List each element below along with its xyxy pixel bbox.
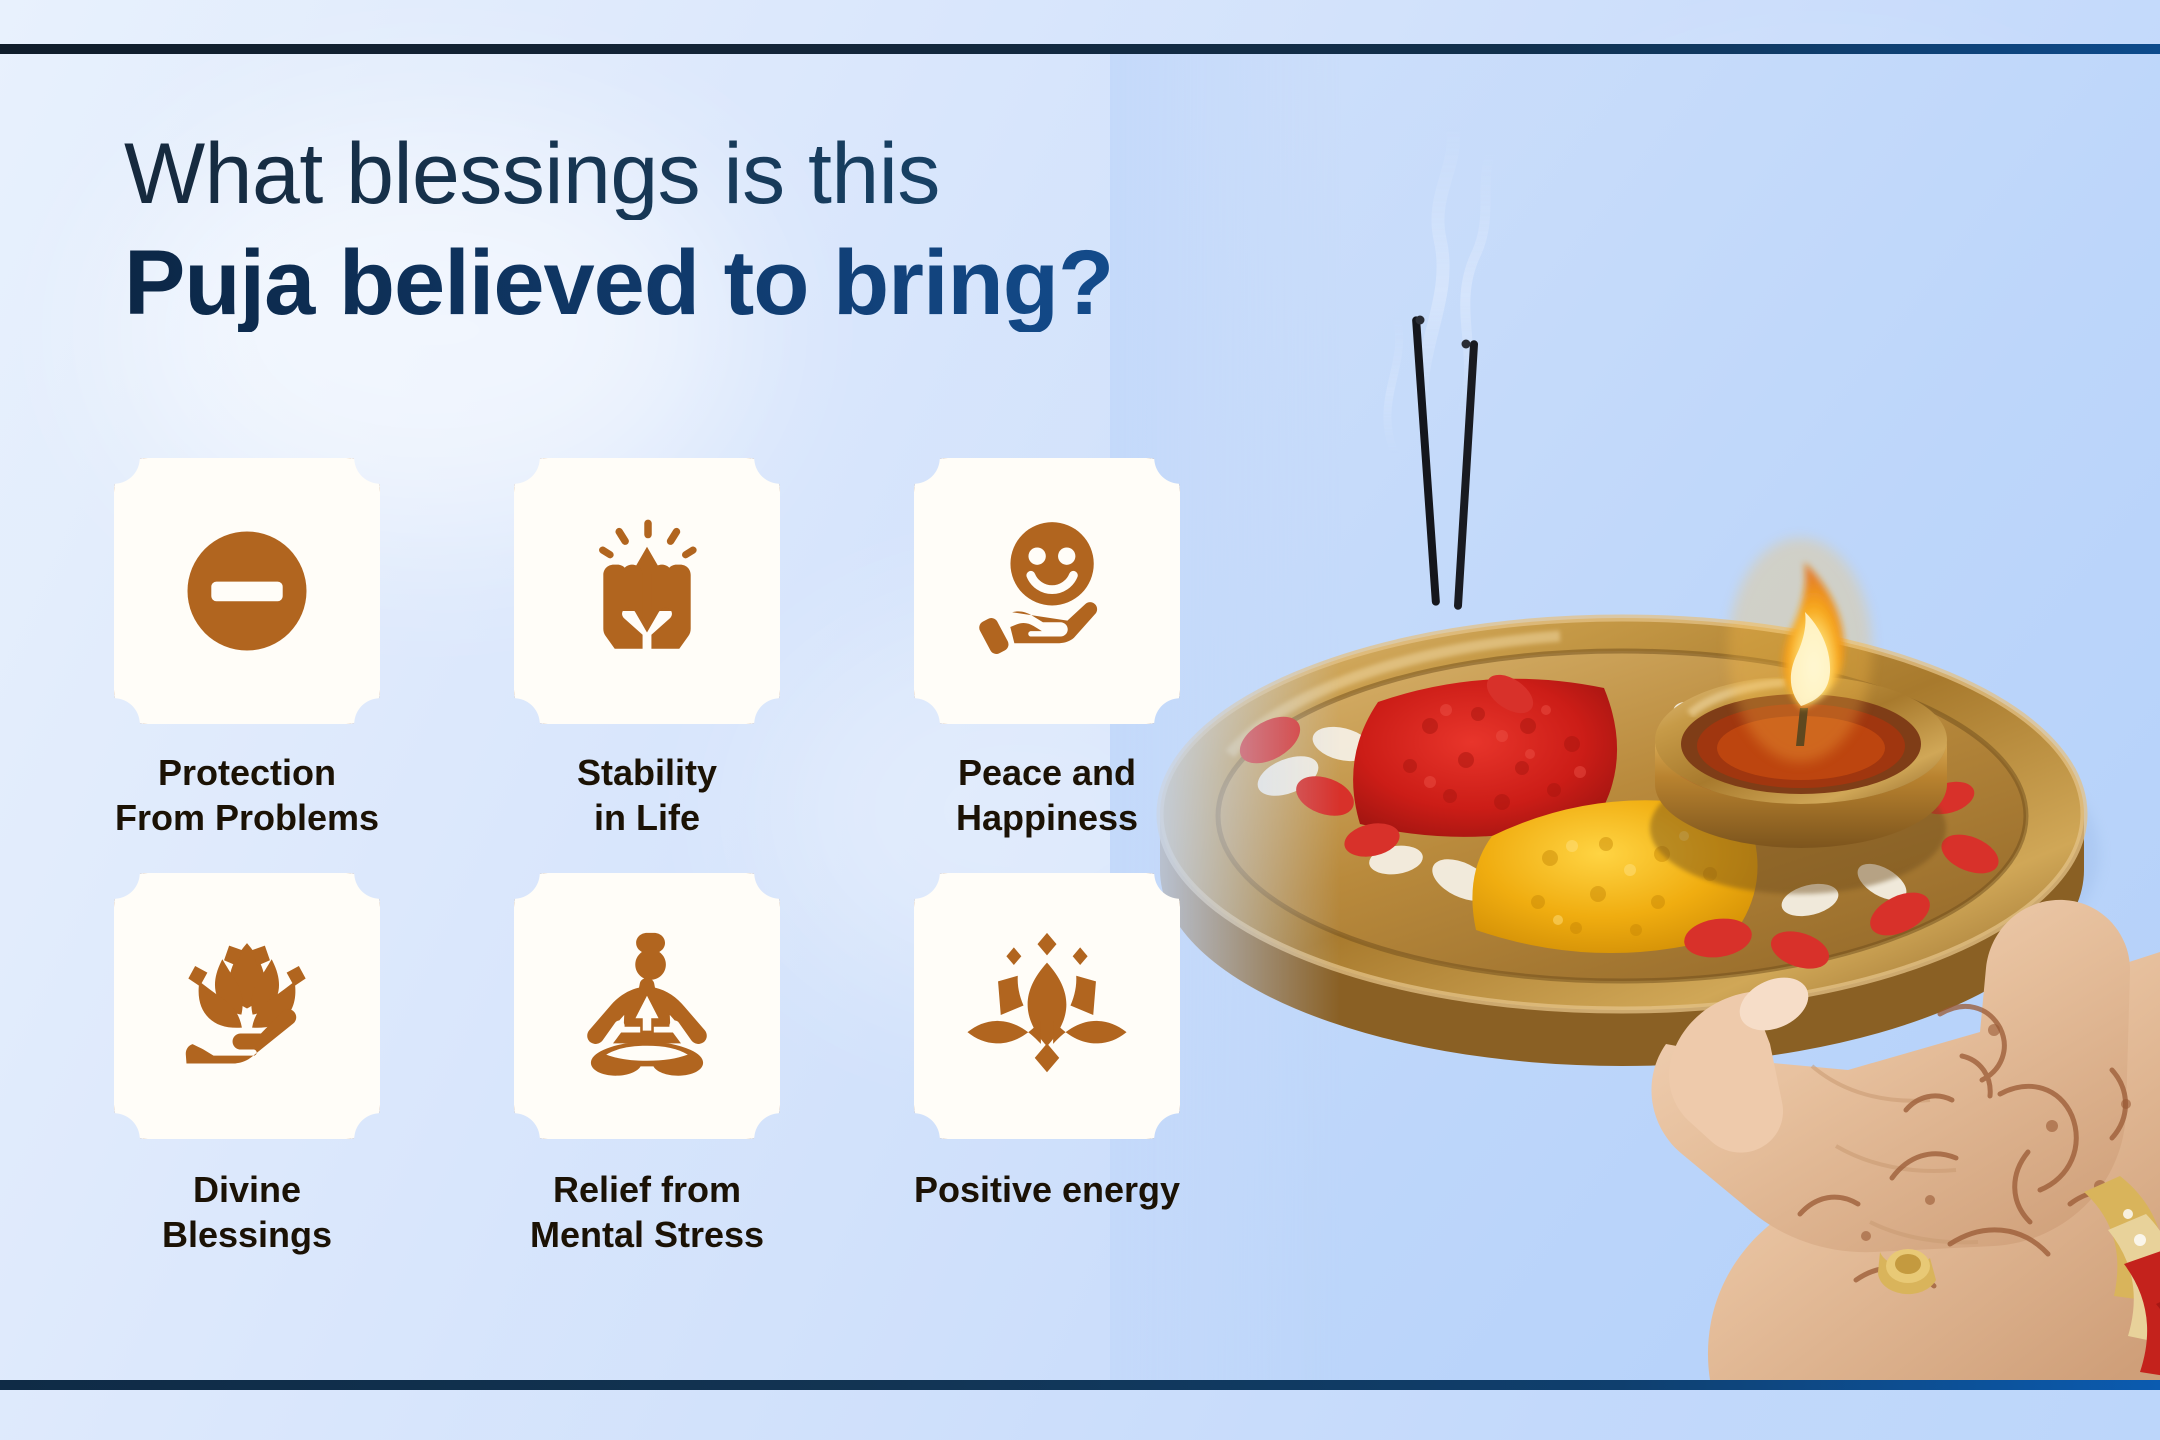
- benefit-icon-card: [114, 873, 380, 1139]
- benefit-icon-card: [914, 873, 1180, 1139]
- benefits-grid: Protection From Problems: [112, 458, 1222, 1257]
- top-divider-rule: [0, 44, 2160, 54]
- bottom-divider-rule: [0, 1380, 2160, 1390]
- page-title: What blessings is this Puja believed to …: [124, 128, 1384, 332]
- benefit-item-divine-blessings[interactable]: Divine Blessings: [112, 873, 382, 1258]
- benefit-item-protection[interactable]: Protection From Problems: [112, 458, 382, 843]
- headline-line-1: What blessings is this: [124, 128, 1384, 220]
- lotus-sparkle-icon: [962, 921, 1132, 1091]
- benefit-label: Protection From Problems: [115, 750, 379, 841]
- hand-holding-smiley-icon: [962, 506, 1132, 676]
- benefit-item-peace[interactable]: Peace and Happiness: [912, 458, 1182, 843]
- benefit-icon-card: [514, 873, 780, 1139]
- benefit-label: Divine Blessings: [162, 1167, 332, 1258]
- hands-holding-star-icon: [562, 506, 732, 676]
- benefit-item-mental-stress[interactable]: Relief from Mental Stress: [512, 873, 782, 1258]
- benefit-icon-card: [514, 458, 780, 724]
- benefit-label: Relief from Mental Stress: [530, 1167, 764, 1258]
- headline-line-2: Puja believed to bring?: [124, 234, 1384, 332]
- benefit-item-stability[interactable]: Stability in Life: [512, 458, 782, 843]
- no-entry-icon: [162, 506, 332, 676]
- meditating-person-icon: [562, 921, 732, 1091]
- benefit-item-positive-energy[interactable]: Positive energy: [912, 873, 1182, 1258]
- benefit-label: Positive energy: [914, 1167, 1180, 1212]
- hand-holding-lotus-icon: [162, 921, 332, 1091]
- benefit-icon-card: [114, 458, 380, 724]
- puja-blessings-banner: What blessings is this Puja believed to …: [0, 0, 2160, 1440]
- benefit-icon-card: [914, 458, 1180, 724]
- benefit-label: Stability in Life: [577, 750, 717, 841]
- benefit-label: Peace and Happiness: [956, 750, 1138, 841]
